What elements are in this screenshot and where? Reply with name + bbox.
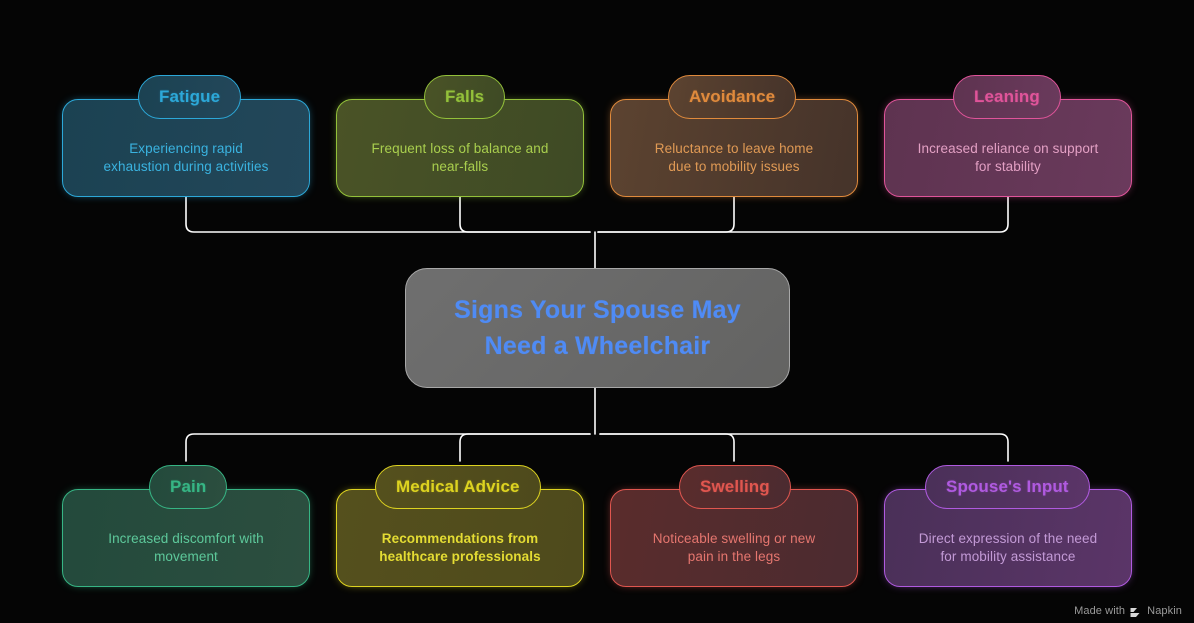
- watermark-brand: Napkin: [1147, 605, 1182, 617]
- node-body-medical-advice: Recommendations from healthcare professi…: [353, 530, 567, 566]
- node-title-swelling: Swelling: [700, 477, 770, 497]
- connector-leaning: [598, 197, 1008, 232]
- node-body-falls: Frequent loss of balance and near-falls: [353, 140, 567, 176]
- connector-pain: [186, 434, 590, 461]
- node-title-pill-avoidance[interactable]: Avoidance: [668, 75, 796, 119]
- node-body-line: Noticeable swelling or new: [653, 531, 815, 546]
- center-node-title: Signs Your Spouse May Need a Wheelchair: [454, 292, 741, 364]
- node-title-pill-swelling[interactable]: Swelling: [679, 465, 791, 509]
- node-title-pain: Pain: [170, 477, 206, 497]
- node-body-line: due to mobility issues: [668, 159, 799, 174]
- node-body-leaning: Increased reliance on support for stabil…: [901, 140, 1115, 176]
- node-body-line: Direct expression of the need: [919, 531, 1098, 546]
- connector-fatigue: [186, 197, 590, 232]
- node-title-spouses-input: Spouse's Input: [946, 477, 1069, 497]
- node-body-line: Frequent loss of balance and: [372, 141, 549, 156]
- node-body-pain: Increased discomfort with movement: [79, 530, 293, 566]
- node-title-medical-advice: Medical Advice: [396, 477, 520, 497]
- node-title-leaning: Leaning: [974, 87, 1040, 107]
- node-body-avoidance: Reluctance to leave home due to mobility…: [627, 140, 841, 176]
- diagram-canvas: Experiencing rapid exhaustion during act…: [0, 0, 1194, 623]
- node-body-line: Increased discomfort with: [108, 531, 264, 546]
- watermark-prefix: Made with: [1074, 605, 1125, 617]
- node-body-line: Increased reliance on support: [918, 141, 1099, 156]
- node-title-pill-medical-advice[interactable]: Medical Advice: [375, 465, 541, 509]
- center-node[interactable]: Signs Your Spouse May Need a Wheelchair: [405, 268, 790, 388]
- node-body-fatigue: Experiencing rapid exhaustion during act…: [79, 140, 293, 176]
- napkin-logo-icon: [1130, 607, 1142, 618]
- node-title-pill-fatigue[interactable]: Fatigue: [138, 75, 241, 119]
- node-title-avoidance: Avoidance: [689, 87, 775, 107]
- connector-spouses-input: [600, 434, 1008, 461]
- connector-medical-advice: [460, 434, 590, 461]
- node-body-line: healthcare professionals: [379, 549, 540, 564]
- node-body-line: movement: [154, 549, 218, 564]
- node-title-falls: Falls: [445, 87, 484, 107]
- connector-avoidance: [598, 197, 734, 232]
- node-body-line: Recommendations from: [382, 531, 539, 546]
- node-title-fatigue: Fatigue: [159, 87, 220, 107]
- node-title-pill-pain[interactable]: Pain: [149, 465, 227, 509]
- center-title-line: Need a Wheelchair: [485, 332, 711, 360]
- center-title-line: Signs Your Spouse May: [454, 296, 741, 324]
- node-body-line: Reluctance to leave home: [655, 141, 814, 156]
- node-body-swelling: Noticeable swelling or new pain in the l…: [627, 530, 841, 566]
- node-body-line: near-falls: [432, 159, 489, 174]
- connector-swelling: [600, 434, 734, 461]
- node-body-spouses-input: Direct expression of the need for mobili…: [901, 530, 1115, 566]
- node-title-pill-falls[interactable]: Falls: [424, 75, 505, 119]
- node-body-line: Experiencing rapid: [129, 141, 243, 156]
- node-title-pill-spouses-input[interactable]: Spouse's Input: [925, 465, 1090, 509]
- connector-falls: [460, 197, 590, 232]
- node-body-line: for stability: [975, 159, 1041, 174]
- node-title-pill-leaning[interactable]: Leaning: [953, 75, 1061, 119]
- node-body-line: pain in the legs: [688, 549, 780, 564]
- node-body-line: for mobility assistance: [940, 549, 1075, 564]
- node-body-line: exhaustion during activities: [104, 159, 269, 174]
- napkin-watermark: Made with Napkin: [1074, 605, 1182, 617]
